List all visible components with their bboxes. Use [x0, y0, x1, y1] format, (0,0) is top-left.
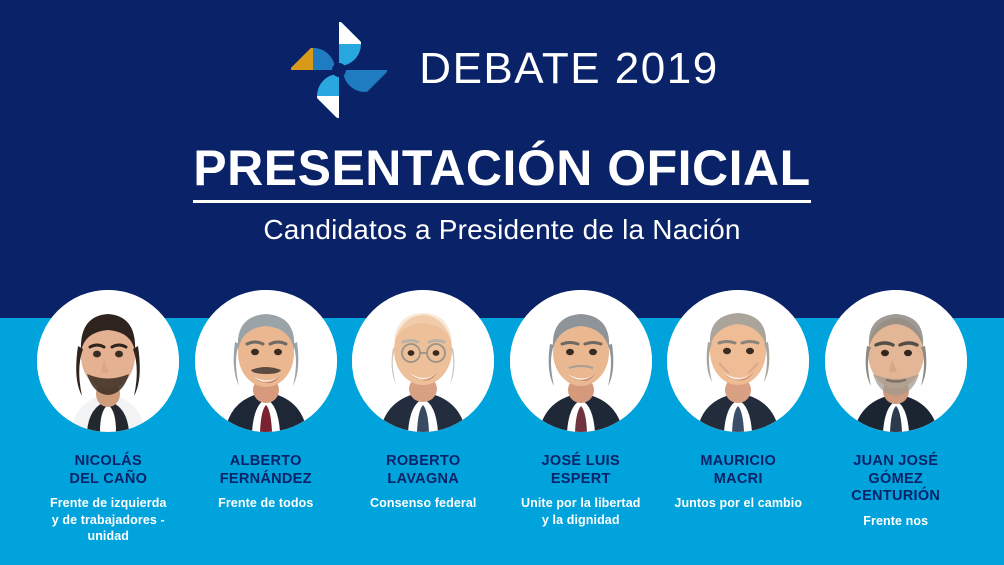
- candidate-party: Frente de todos: [218, 495, 313, 512]
- candidates-row: NICOLÁS DEL CAÑO Frente de izquierda y d…: [0, 290, 1004, 565]
- candidate-party: Frente nos: [863, 513, 928, 530]
- candidate-card: ALBERTO FERNÁNDEZ Frente de todos: [195, 290, 337, 512]
- logo-wordmark: DEBATE 2019: [419, 47, 718, 94]
- candidate-card: JOSÉ LUIS ESPERT Unite por la libertad y…: [510, 290, 652, 528]
- page-subtitle: Candidatos a Presidente de la Nación: [0, 214, 1004, 246]
- debate-diamond-logo-icon: [285, 16, 393, 124]
- candidate-party: Consenso federal: [370, 495, 477, 512]
- candidate-name: MAURICIO MACRI: [700, 453, 776, 488]
- title-underline: [193, 200, 810, 203]
- candidate-avatar: [352, 290, 494, 432]
- title-block: PRESENTACIÓN OFICIAL Candidatos a Presid…: [0, 142, 1004, 246]
- candidate-name: ROBERTO LAVAGNA: [386, 453, 460, 488]
- page-title-text: PRESENTACIÓN OFICIAL: [193, 140, 810, 196]
- candidate-card: NICOLÁS DEL CAÑO Frente de izquierda y d…: [37, 290, 179, 545]
- candidate-avatar: [825, 290, 967, 432]
- candidate-avatar: [667, 290, 809, 432]
- candidate-card: MAURICIO MACRI Juntos por el cambio: [667, 290, 809, 512]
- candidate-name: NICOLÁS DEL CAÑO: [69, 453, 147, 488]
- candidate-name: JUAN JOSÉ GÓMEZ CENTURIÓN: [851, 453, 940, 506]
- page-title: PRESENTACIÓN OFICIAL: [193, 142, 810, 203]
- candidate-card: ROBERTO LAVAGNA Consenso federal: [352, 290, 494, 512]
- brand-lockup: DEBATE 2019: [0, 14, 1004, 126]
- candidate-name: JOSÉ LUIS ESPERT: [542, 453, 620, 488]
- candidate-avatar: [510, 290, 652, 432]
- candidate-party: Juntos por el cambio: [674, 495, 802, 512]
- candidate-party: Frente de izquierda y de trabajadores - …: [50, 495, 167, 545]
- candidate-avatar: [37, 290, 179, 432]
- candidate-party: Unite por la libertad y la dignidad: [521, 495, 640, 528]
- candidate-card: JUAN JOSÉ GÓMEZ CENTURIÓN Frente nos: [825, 290, 967, 530]
- candidate-avatar: [195, 290, 337, 432]
- presentation-slide: DEBATE 2019 PRESENTACIÓN OFICIAL Candida…: [0, 0, 1004, 565]
- candidate-name: ALBERTO FERNÁNDEZ: [220, 453, 312, 488]
